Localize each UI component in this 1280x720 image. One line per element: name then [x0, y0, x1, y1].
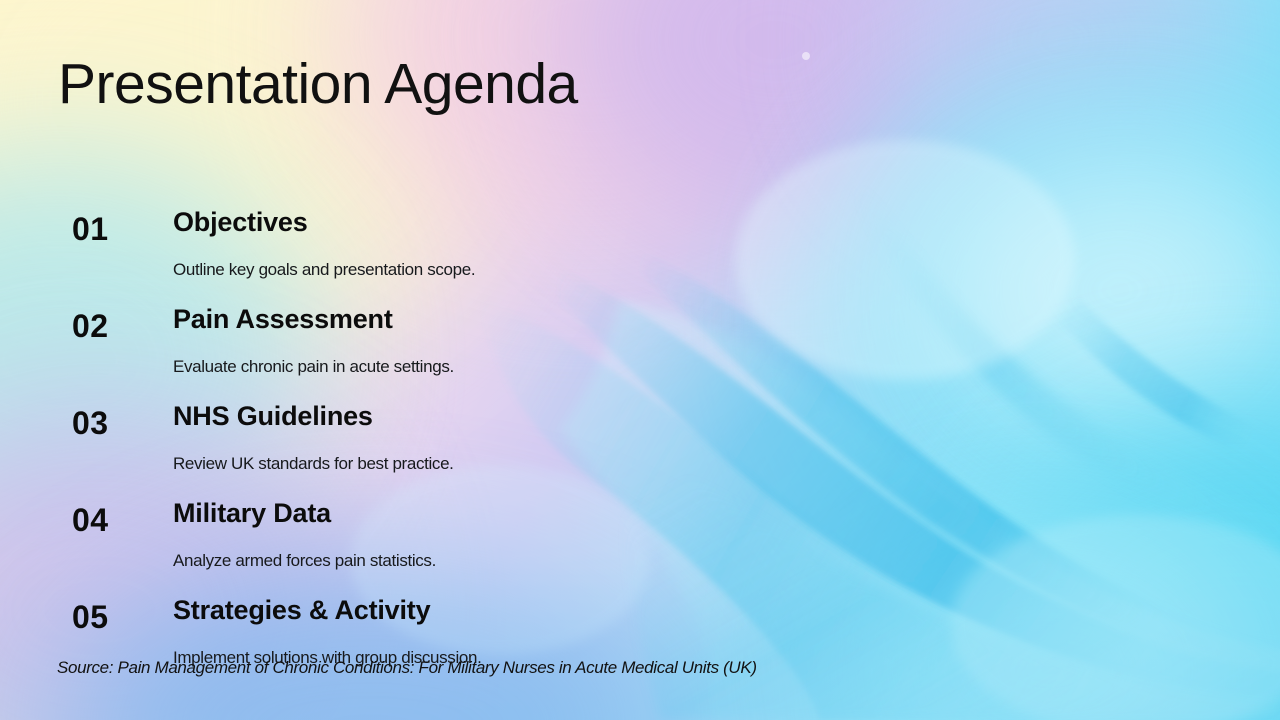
agenda-item-heading: Strategies & Activity: [173, 595, 430, 626]
agenda-list: 01 Objectives Outline key goals and pres…: [0, 203, 700, 688]
blob-teal-bottom-right: [980, 420, 1280, 720]
agenda-item-description: Evaluate chronic pain in acute settings.: [173, 357, 454, 377]
agenda-item-heading: Military Data: [173, 498, 331, 529]
source-note: Source: Pain Management of Chronic Condi…: [57, 658, 757, 678]
agenda-item-number: 04: [72, 502, 109, 539]
agenda-item-description: Review UK standards for best practice.: [173, 454, 454, 474]
agenda-item-description: Analyze armed forces pain statistics.: [173, 551, 436, 571]
blob-violet: [560, 0, 990, 230]
presentation-slide: Presentation Agenda 01 Objectives Outlin…: [0, 0, 1280, 720]
blob-highlight-right: [940, 150, 1280, 430]
agenda-item-heading: Pain Assessment: [173, 304, 393, 335]
agenda-item-number: 02: [72, 308, 109, 345]
blob-lavender-top-right: [880, 0, 1240, 190]
agenda-item-number: 03: [72, 405, 109, 442]
agenda-item-number: 05: [72, 599, 109, 636]
agenda-item-heading: NHS Guidelines: [173, 401, 373, 432]
agenda-item-02[interactable]: 02 Pain Assessment Evaluate chronic pain…: [0, 300, 700, 397]
blob-pale-bottom-right: [840, 520, 1260, 720]
blob-sky-right: [830, 60, 1280, 580]
agenda-item-heading: Objectives: [173, 207, 308, 238]
agenda-item-01[interactable]: 01 Objectives Outline key goals and pres…: [0, 203, 700, 300]
agenda-item-03[interactable]: 03 NHS Guidelines Review UK standards fo…: [0, 397, 700, 494]
agenda-item-description: Outline key goals and presentation scope…: [173, 260, 475, 280]
agenda-item-number: 01: [72, 211, 109, 248]
page-title: Presentation Agenda: [58, 55, 578, 115]
agenda-item-04[interactable]: 04 Military Data Analyze armed forces pa…: [0, 494, 700, 591]
